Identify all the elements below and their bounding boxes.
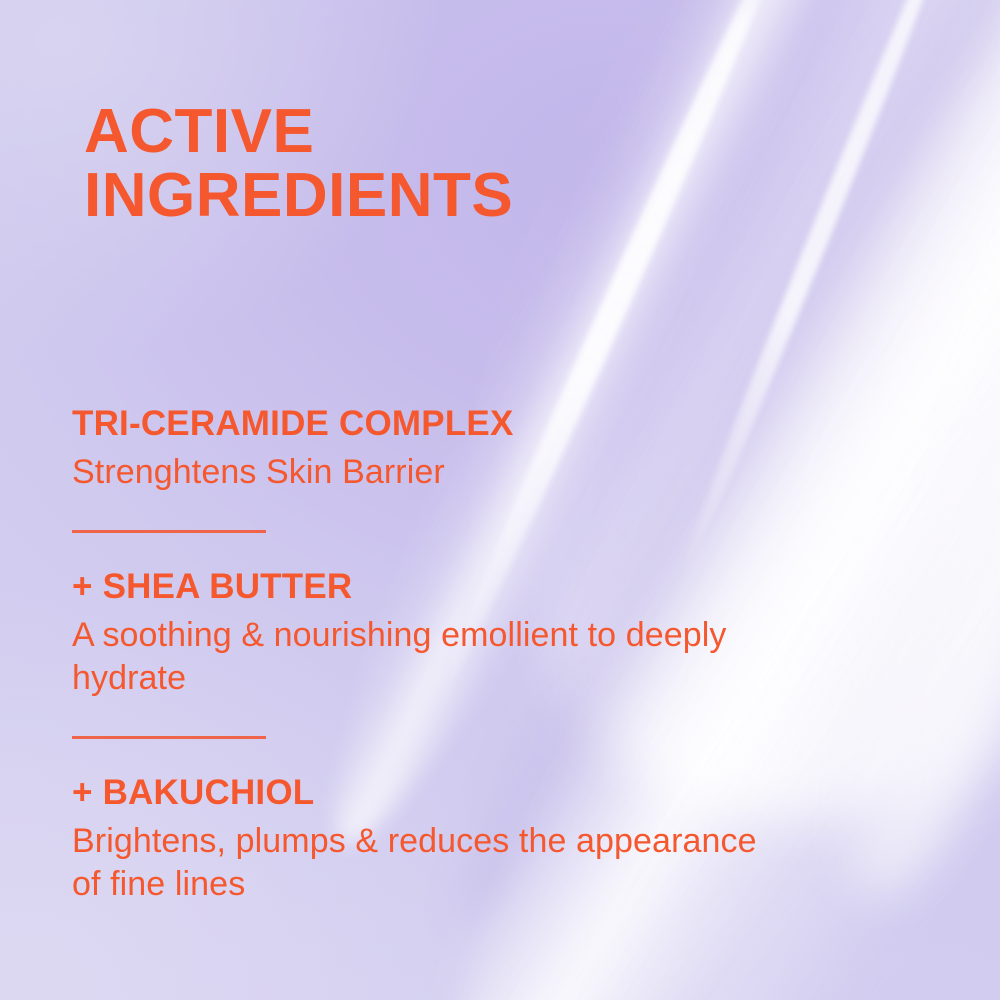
ingredient-item-tri-ceramide-complex: TRI-CERAMIDE COMPLEX Strenghtens Skin Ba…	[72, 404, 852, 494]
page-title: ACTIVE INGREDIENTS	[84, 100, 513, 229]
divider-rule-1	[72, 530, 266, 533]
ingredient-item-shea-butter: + SHEA BUTTER A soothing & nourishing em…	[72, 567, 852, 700]
divider-rule-2	[72, 736, 266, 739]
ingredient-description: Strenghtens Skin Barrier	[72, 451, 792, 494]
content-layer: ACTIVE INGREDIENTS TRI-CERAMIDE COMPLEX …	[0, 0, 1000, 1000]
ingredient-list: TRI-CERAMIDE COMPLEX Strenghtens Skin Ba…	[72, 404, 852, 906]
ingredient-name: TRI-CERAMIDE COMPLEX	[72, 404, 852, 443]
ingredient-description: Brightens, plumps & reduces the appearan…	[72, 820, 792, 906]
ingredient-description: A soothing & nourishing emollient to dee…	[72, 614, 792, 700]
ingredient-name: + BAKUCHIOL	[72, 773, 852, 812]
ingredient-item-bakuchiol: + BAKUCHIOL Brightens, plumps & reduces …	[72, 773, 852, 906]
ingredient-name: + SHEA BUTTER	[72, 567, 852, 606]
product-ingredients-panel: ACTIVE INGREDIENTS TRI-CERAMIDE COMPLEX …	[0, 0, 1000, 1000]
